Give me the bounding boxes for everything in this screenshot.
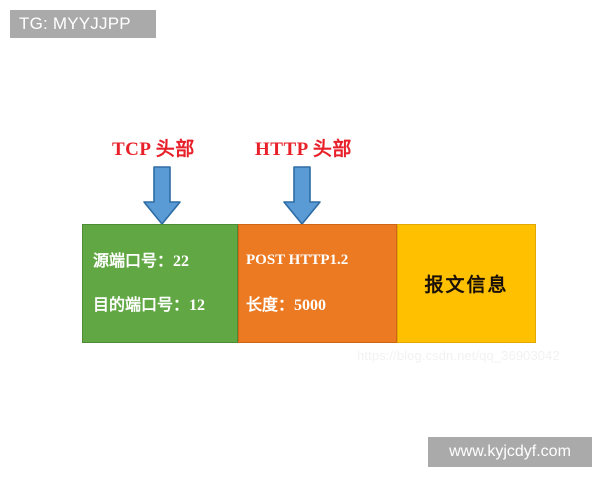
site-url-badge: www.kyjcdyf.com: [428, 437, 592, 467]
http-request-line-text: POST HTTP1.2: [246, 253, 396, 268]
packet-segment-tcp-header: 源端口号：22 目的端口号：12: [82, 224, 238, 343]
http-content-length-text: 长度：5000: [246, 298, 396, 314]
source-watermark: https://blog.csdn.net/qq_36903042: [357, 348, 560, 363]
http-header-label: HTTP 头部: [255, 134, 352, 161]
tcp-source-port-text: 源端口号：22: [93, 254, 237, 270]
packet-segment-message-body: 报文信息: [397, 224, 536, 343]
down-arrow-icon-http: [280, 166, 324, 226]
packet-segment-http-header: POST HTTP1.2 长度：5000: [238, 224, 397, 343]
tcp-dest-port-text: 目的端口号：12: [93, 298, 237, 314]
diagram-canvas: TG: MYYJJPP TCP 头部 HTTP 头部 源端口号：22 目的端口号…: [0, 0, 600, 480]
tag-badge: TG: MYYJJPP: [10, 10, 156, 38]
down-arrow-icon-tcp: [140, 166, 184, 226]
packet-diagram: 源端口号：22 目的端口号：12 POST HTTP1.2 长度：5000 报文…: [82, 224, 536, 343]
tcp-header-label: TCP 头部: [112, 134, 195, 161]
message-body-text: 报文信息: [424, 270, 508, 297]
